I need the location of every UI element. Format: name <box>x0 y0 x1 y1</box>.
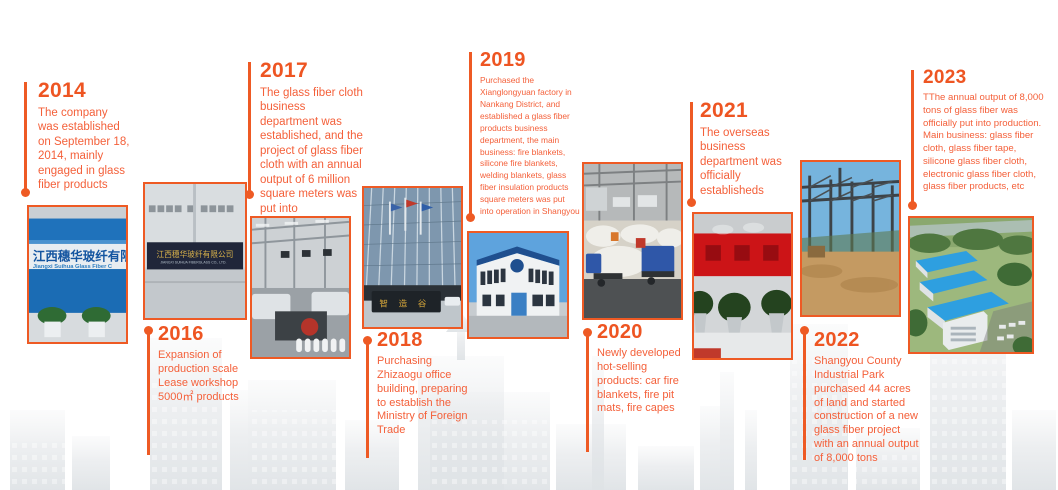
svg-text:谷: 谷 <box>418 299 427 310</box>
timeline-stem-2023 <box>911 70 914 205</box>
timeline-dot-2014 <box>21 188 30 197</box>
timeline-dot-2016 <box>144 326 153 335</box>
milestone-2023: 2023 TThe annual output of 8,000 tons of… <box>923 68 1045 194</box>
timeline-dot-2023 <box>908 201 917 210</box>
milestone-2021: 2021 The overseas business department wa… <box>700 100 798 198</box>
milestone-2017: 2017 The glass fiber cloth business depa… <box>260 60 364 216</box>
milestone-year-2020: 2020 <box>597 322 689 342</box>
milestone-text-2019: Purchased the Xianglongyuan factory in N… <box>480 75 580 218</box>
svg-text:造: 造 <box>399 298 408 310</box>
svg-text:智: 智 <box>379 298 388 310</box>
milestone-text-2022: Shangyou County Industrial Park purchase… <box>814 355 920 466</box>
milestone-2022: 2022 Shangyou County Industrial Park pur… <box>814 330 920 466</box>
photo-2016-workshop-exterior: 江西穗华玻纤有限公司 JIANGXI SUIHUA FIBERGLASS CO.… <box>143 182 247 320</box>
milestone-year-2021: 2021 <box>700 100 798 121</box>
milestone-year-2016: 2016 <box>158 324 258 344</box>
timeline-dot-2021 <box>687 198 696 207</box>
timeline-stem-2014 <box>24 82 27 192</box>
milestone-year-2014: 2014 <box>38 80 130 101</box>
milestone-year-2017: 2017 <box>260 60 364 81</box>
milestone-text-2014: The company was established on September… <box>38 106 130 193</box>
photo-2017-weaving-workshop <box>250 216 351 359</box>
milestone-text-2021: The overseas business department was off… <box>700 126 798 198</box>
photo-2022-construction-site <box>800 160 901 317</box>
photo-2023-new-plant-aerial <box>908 216 1034 354</box>
photo-2021-opening-ceremony <box>692 212 793 360</box>
svg-text:江西穗华玻纤有限: 江西穗华玻纤有限 <box>33 248 126 263</box>
timeline-infographic: 2014 The company was established on Sept… <box>0 0 1058 490</box>
milestone-text-2023: TThe annual output of 8,000 tons of glas… <box>923 92 1045 194</box>
timeline-stem-2017 <box>248 62 251 194</box>
milestone-year-2019: 2019 <box>480 50 580 70</box>
milestone-text-2016: Expansion of production scale Lease work… <box>158 349 258 404</box>
photo-2014-factory-gate: 江西穗华玻纤有限 Jiangxi Suihua Glass Fiber C <box>27 205 128 344</box>
milestone-text-2018: Purchasing Zhizaogu office building, pre… <box>377 355 469 438</box>
timeline-dot-2022 <box>800 326 809 335</box>
svg-text:JIANGXI SUIHUA FIBERGLASS CO.,: JIANGXI SUIHUA FIBERGLASS CO., LTD. <box>160 261 226 265</box>
timeline-dot-2019 <box>466 213 475 222</box>
milestone-year-2022: 2022 <box>814 330 920 350</box>
photo-2019-factory-building <box>467 231 569 339</box>
timeline-stem-2018 <box>366 340 369 458</box>
timeline-dot-2018 <box>363 336 372 345</box>
timeline-stem-2022 <box>803 330 806 460</box>
timeline-stem-2016 <box>147 330 150 455</box>
milestone-2014: 2014 The company was established on Sept… <box>38 80 130 193</box>
svg-text:江西穗华玻纤有限公司: 江西穗华玻纤有限公司 <box>157 249 234 259</box>
milestone-year-2018: 2018 <box>377 330 469 350</box>
milestone-2016: 2016 Expansion of production scale Lease… <box>158 324 258 404</box>
milestone-text-2020: Newly developed hot-selling products: ca… <box>597 347 689 416</box>
timeline-dot-2020 <box>583 328 592 337</box>
timeline-stem-2019 <box>469 52 472 217</box>
timeline-stem-2020 <box>586 332 589 452</box>
milestone-2019: 2019 Purchased the Xianglongyuan factory… <box>480 50 580 218</box>
milestone-2018: 2018 Purchasing Zhizaogu office building… <box>377 330 469 438</box>
milestone-2020: 2020 Newly developed hot-selling product… <box>597 322 689 416</box>
photo-2020-packing-workshop <box>582 162 683 320</box>
photo-2018-office-building: 智造谷 <box>362 186 463 329</box>
timeline-stem-2021 <box>690 102 693 202</box>
milestone-year-2023: 2023 <box>923 68 1045 87</box>
milestone-text-2017: The glass fiber cloth business departmen… <box>260 86 364 216</box>
